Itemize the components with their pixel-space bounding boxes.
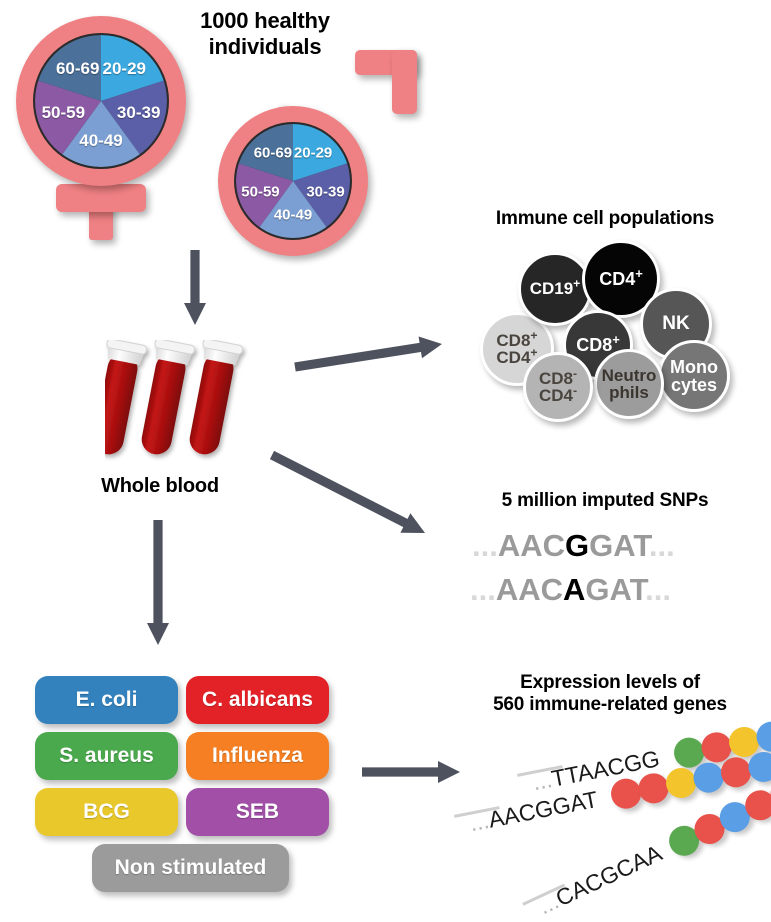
stimulation-pill-label: Influenza xyxy=(212,744,303,768)
snp-sequence-row-1: ...AACGGAT... xyxy=(472,528,675,564)
snp-trailing-dots: ... xyxy=(649,528,675,563)
snp-tail-bases: GAT xyxy=(585,572,645,607)
figure-canvas: 20-2930-3940-4950-5960-69 20-2930-3940-4… xyxy=(0,0,771,922)
arrow-blood-to-snp-shaft xyxy=(272,455,408,524)
snp-trailing-dots: ... xyxy=(645,572,671,607)
snp-tail-bases: GAT xyxy=(589,528,649,563)
blood-tubes-group xyxy=(105,340,265,485)
stimulation-pill-c-albicans[interactable]: C. albicans xyxy=(186,676,329,724)
snp-leading-dots: ... xyxy=(470,572,496,607)
section-title-immune-cells: Immune cell populations xyxy=(450,208,760,230)
stimulation-pill-e-coli[interactable]: E. coli xyxy=(35,676,178,724)
stimulation-pill-non-stimulated[interactable]: Non stimulated xyxy=(92,844,289,892)
snp-leading-dots: ... xyxy=(472,528,498,563)
arrow-stim-to-genes-head xyxy=(438,761,460,783)
arrow-blood-to-immune-head xyxy=(419,337,442,359)
stimulation-pill-influenza[interactable]: Influenza xyxy=(186,732,329,780)
stimulation-pill-label: C. albicans xyxy=(202,688,313,712)
snp-lead-bases: AAC xyxy=(498,528,565,563)
stimulation-pill-label: BCG xyxy=(83,800,130,824)
arrow-blood-to-immune-shaft xyxy=(295,347,423,367)
snp-sequence-block: ...AACGGAT......AACAGAT... xyxy=(470,528,760,618)
snp-sequence-row-2: ...AACAGAT... xyxy=(470,572,671,608)
snp-lead-bases: AAC xyxy=(496,572,563,607)
stimulation-pill-label: Non stimulated xyxy=(115,856,267,880)
section-title-snps: 5 million imputed SNPs xyxy=(455,490,755,512)
blood-tubes-svg xyxy=(105,340,265,485)
label-whole-blood: Whole blood xyxy=(70,475,250,499)
section-title-expression: Expression levels of 560 immune-related … xyxy=(455,672,765,717)
stimulation-pill-label: E. coli xyxy=(76,688,138,712)
stimulation-pill-label: SEB xyxy=(236,800,279,824)
stimulation-pill-label: S. aureus xyxy=(59,744,154,768)
arrow-blood-to-stim-head xyxy=(147,623,169,645)
stimulation-pill-s-aureus[interactable]: S. aureus xyxy=(35,732,178,780)
snp-highlight-base: A xyxy=(563,572,585,607)
arrow-cohort-to-blood-head xyxy=(184,303,206,325)
stimulation-pill-seb[interactable]: SEB xyxy=(186,788,329,836)
stimulation-pill-bcg[interactable]: BCG xyxy=(35,788,178,836)
snp-highlight-base: G xyxy=(565,528,589,563)
